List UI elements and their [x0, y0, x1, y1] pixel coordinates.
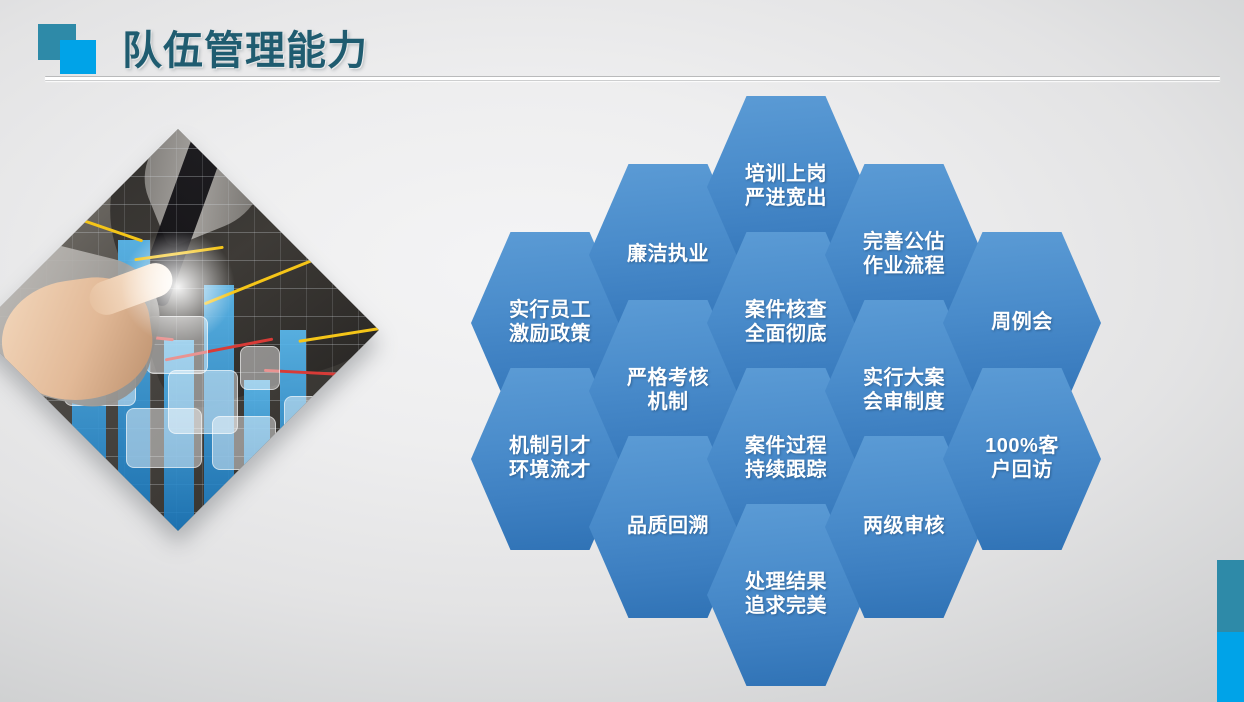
corner-accent-dark: [1217, 560, 1244, 632]
hexagon-label: 周例会: [985, 311, 1059, 335]
photo-touch-glow: [118, 232, 238, 342]
hexagon-label: 实行大案 会审制度: [857, 367, 951, 414]
corner-accent-cyan: [1217, 632, 1244, 702]
hexagon-label: 严格考核 机制: [621, 367, 715, 414]
diamond-photo: [0, 129, 379, 531]
slide-canvas: 队伍管理能力: [0, 0, 1244, 702]
hexagon-label: 品质回溯: [621, 515, 715, 539]
hexagon-label: 两级审核: [857, 515, 951, 539]
hexagon-label: 廉洁执业: [621, 243, 715, 267]
header-divider: [45, 76, 1220, 81]
logo-square-cyan-icon: [60, 40, 96, 74]
hexagon-label: 培训上岗 严进宽出: [739, 163, 833, 210]
hexagon-label: 案件核查 全面彻底: [739, 299, 833, 346]
hexagon-label: 机制引才 环境流才: [503, 435, 597, 482]
hexagon-label: 实行员工 激励政策: [503, 299, 597, 346]
page-title: 队伍管理能力: [122, 18, 368, 76]
photo-content: [0, 129, 379, 531]
hexagon-label: 100%客 户回访: [979, 435, 1065, 482]
hexagon-label: 完善公估 作业流程: [857, 231, 951, 278]
hexagon-label: 处理结果 追求完美: [739, 571, 833, 618]
hexagon-label: 案件过程 持续跟踪: [739, 435, 833, 482]
